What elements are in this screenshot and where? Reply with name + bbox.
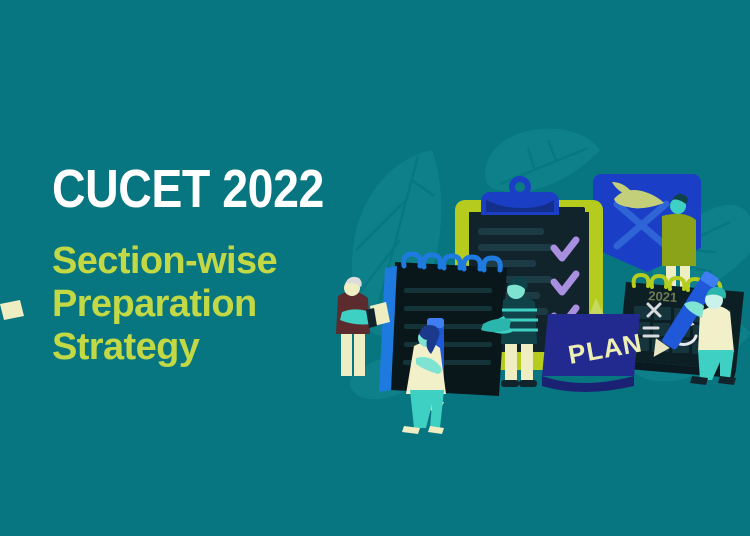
plan-banner: PLAN	[542, 314, 645, 392]
headline-block: CUCET 2022 Section-wise Preparation Stra…	[52, 160, 382, 369]
subtitle-line-3: Strategy	[52, 326, 382, 369]
page-subtitle: Section-wise Preparation Strategy	[52, 240, 382, 369]
clipboard-clip-icon	[481, 176, 559, 215]
subtitle-line-2: Preparation	[52, 283, 382, 326]
cucet-promo-banner: 2021 PLAN	[0, 0, 750, 536]
calendar-year-label: 2021	[648, 288, 678, 305]
paper-sliver	[0, 300, 24, 320]
page-title: CUCET 2022	[52, 160, 336, 218]
subtitle-line-1: Section-wise	[52, 240, 382, 283]
